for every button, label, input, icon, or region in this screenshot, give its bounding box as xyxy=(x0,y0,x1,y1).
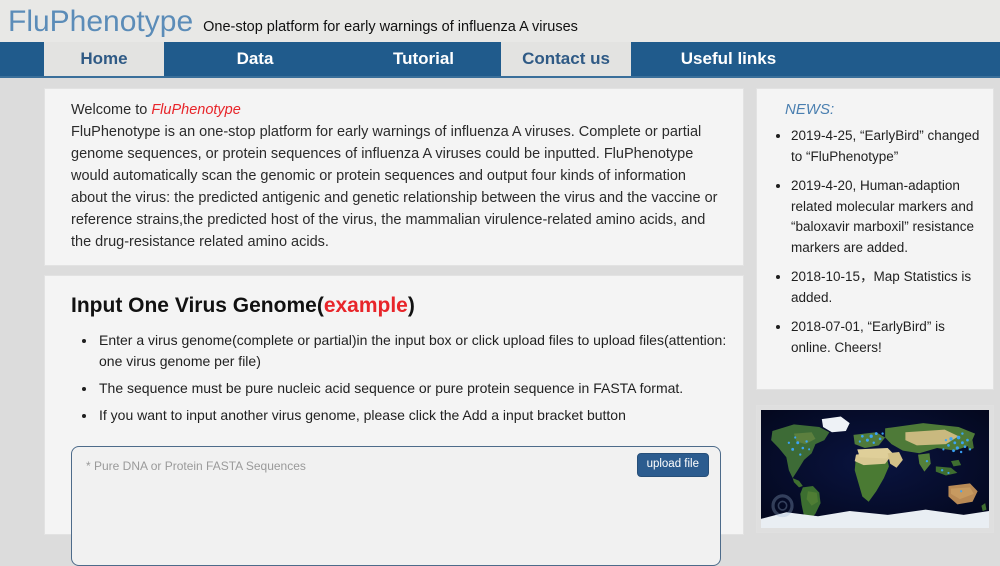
panel-divider xyxy=(44,266,744,275)
brand-tagline: One-stop platform for early warnings of … xyxy=(203,17,578,37)
nav-item-tutorial[interactable]: Tutorial xyxy=(346,42,501,76)
sidebar-column: NEWS: 2019-4-25, “EarlyBird” changed to … xyxy=(756,88,994,535)
nav-item-contact-us[interactable]: Contact us xyxy=(501,42,631,76)
brand-title: FluPhenotype xyxy=(8,0,193,39)
list-item: 2018-07-01, “EarlyBird” is online. Cheer… xyxy=(791,317,983,358)
page-body: Welcome to FluPhenotype FluPhenotype is … xyxy=(0,78,1000,535)
main-nav: Home Data Tutorial Contact us Useful lin… xyxy=(0,42,1000,78)
list-item: 2018-10-15，Map Statistics is added. xyxy=(791,267,983,308)
list-item: Enter a virus genome(complete or partial… xyxy=(97,330,729,372)
welcome-panel: Welcome to FluPhenotype FluPhenotype is … xyxy=(44,88,744,266)
nav-item-useful-links[interactable]: Useful links xyxy=(631,42,826,76)
site-header: FluPhenotype One-stop platform for early… xyxy=(0,0,1000,42)
news-title: NEWS: xyxy=(785,101,983,118)
input-genome-panel: Input One Virus Genome(example) Enter a … xyxy=(44,275,744,535)
section-title-suffix: ) xyxy=(408,294,415,317)
nav-left-spacer xyxy=(0,42,44,76)
nav-item-home[interactable]: Home xyxy=(44,42,164,76)
sequence-input[interactable] xyxy=(71,446,721,566)
welcome-greeting-prefix: Welcome to xyxy=(71,102,151,118)
welcome-greeting-brand: FluPhenotype xyxy=(151,102,240,118)
list-item: 2019-4-20, Human-adaption related molecu… xyxy=(791,176,983,258)
list-item: If you want to input another virus genom… xyxy=(97,405,729,426)
list-item: 2019-4-25, “EarlyBird” changed to “FluPh… xyxy=(791,126,983,167)
world-map-image xyxy=(761,410,989,528)
main-column: Welcome to FluPhenotype FluPhenotype is … xyxy=(44,88,744,535)
section-title-main: Input One Virus Genome( xyxy=(71,294,324,317)
list-item: The sequence must be pure nucleic acid s… xyxy=(97,378,729,399)
welcome-greeting: Welcome to FluPhenotype xyxy=(71,99,725,121)
welcome-body-text: FluPhenotype is an one-stop platform for… xyxy=(71,121,725,253)
nav-item-data[interactable]: Data xyxy=(164,42,346,76)
sequence-input-wrap: upload file xyxy=(71,446,721,534)
news-list: 2019-4-25, “EarlyBird” changed to “FluPh… xyxy=(763,126,983,358)
instruction-list: Enter a virus genome(complete or partial… xyxy=(59,330,729,432)
news-panel: NEWS: 2019-4-25, “EarlyBird” changed to … xyxy=(756,88,994,390)
upload-file-button[interactable]: upload file xyxy=(637,453,709,477)
page-title: Input One Virus Genome(example) xyxy=(71,292,729,320)
example-link[interactable]: example xyxy=(324,294,408,317)
map-statistics-panel[interactable] xyxy=(756,405,994,533)
sidebar-divider xyxy=(756,390,994,405)
